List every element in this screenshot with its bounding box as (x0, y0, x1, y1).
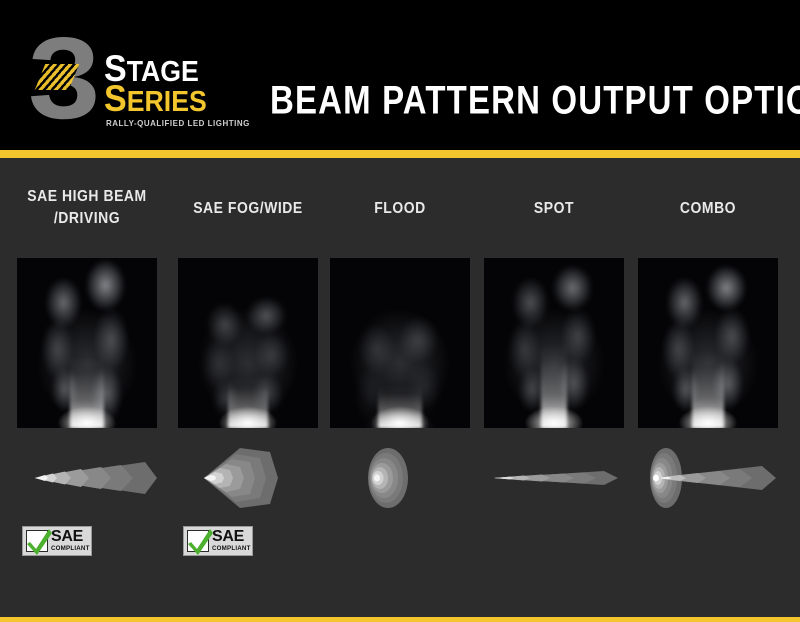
beam-shape-round-blob (330, 446, 478, 510)
photo-lit-road (228, 376, 268, 428)
column-label-sae-fog-wide: SAE FOG/WIDE (172, 198, 323, 220)
photo-lit-road (70, 356, 104, 428)
column-label-line1: COMBO (680, 200, 736, 217)
accent-bar-top (0, 150, 800, 158)
beam-shape-very-long-thin (484, 446, 632, 510)
photo-lit-road (378, 384, 422, 428)
beam-photo-sae-fog-wide (178, 258, 318, 428)
stage-series-logo: 3 STAGE SERIES RALLY-QUALIFIED LED LIGHT… (28, 26, 243, 130)
logo-series-rest: ERIES (127, 86, 207, 118)
check-icon (25, 526, 53, 556)
column-label-spot: SPOT (478, 198, 629, 220)
logo-word-series: SERIES (104, 80, 207, 117)
sae-badge-sub: COMPLIANT (212, 546, 251, 552)
beam-column-sae-fog-wide: SAE FOG/WIDE (178, 158, 318, 617)
logo-tagline: RALLY-QUALIFIED LED LIGHTING (106, 118, 250, 128)
beam-diagram-combo (638, 446, 786, 510)
page-title: BEAM PATTERN OUTPUT OPTIONS (270, 78, 800, 124)
sae-badge-main: SAE (212, 529, 251, 545)
column-label-line1: SPOT (534, 200, 574, 217)
beam-column-flood: FLOOD (330, 158, 470, 617)
beam-diagram-sae-fog-wide (178, 446, 326, 510)
beam-diagram-flood (330, 446, 478, 510)
column-label-line1: FLOOD (374, 200, 426, 217)
sae-compliant-badge: SAE COMPLIANT (22, 526, 92, 556)
column-label-line1: SAE HIGH BEAM (27, 188, 146, 205)
beam-pattern-grid: SAE HIGH BEAM /DRIVING (0, 158, 800, 617)
beam-diagram-sae-high-beam-driving (17, 446, 165, 510)
photo-lit-road (541, 342, 567, 428)
beam-photo-flood (330, 258, 470, 428)
beam-column-combo: COMBO (638, 158, 778, 617)
beam-photo-combo (638, 258, 778, 428)
beam-diagram-spot (484, 446, 632, 510)
beam-column-spot: SPOT (484, 158, 624, 617)
beam-photo-spot (484, 258, 624, 428)
header-banner: 3 STAGE SERIES RALLY-QUALIFIED LED LIGHT… (0, 0, 800, 150)
column-label-line1: SAE FOG/WIDE (193, 200, 303, 217)
photo-lit-road (692, 350, 724, 428)
sae-badge-text: SAE COMPLIANT (51, 529, 90, 552)
sae-checkbox (187, 530, 209, 552)
column-label-sae-high-beam-driving: SAE HIGH BEAM /DRIVING (11, 186, 162, 230)
beam-column-sae-high-beam-driving: SAE HIGH BEAM /DRIVING (17, 158, 157, 617)
beam-shape-long-narrow-cone (17, 446, 165, 510)
column-label-line2: /DRIVING (54, 210, 120, 227)
beam-shape-short-wide-cone (178, 446, 326, 510)
sae-compliant-badge: SAE COMPLIANT (183, 526, 253, 556)
sae-badge-main: SAE (51, 529, 90, 545)
sae-badge-text: SAE COMPLIANT (212, 529, 251, 552)
column-label-combo: COMBO (632, 198, 783, 220)
logo-series-cap: S (104, 78, 127, 119)
accent-bar-bottom (0, 617, 800, 622)
column-label-flood: FLOOD (324, 198, 475, 220)
beam-photo-sae-high-beam-driving (17, 258, 157, 428)
check-icon (186, 526, 214, 556)
beam-shape-flood-plus-spot (638, 446, 786, 510)
sae-checkbox (26, 530, 48, 552)
sae-badge-sub: COMPLIANT (51, 546, 90, 552)
